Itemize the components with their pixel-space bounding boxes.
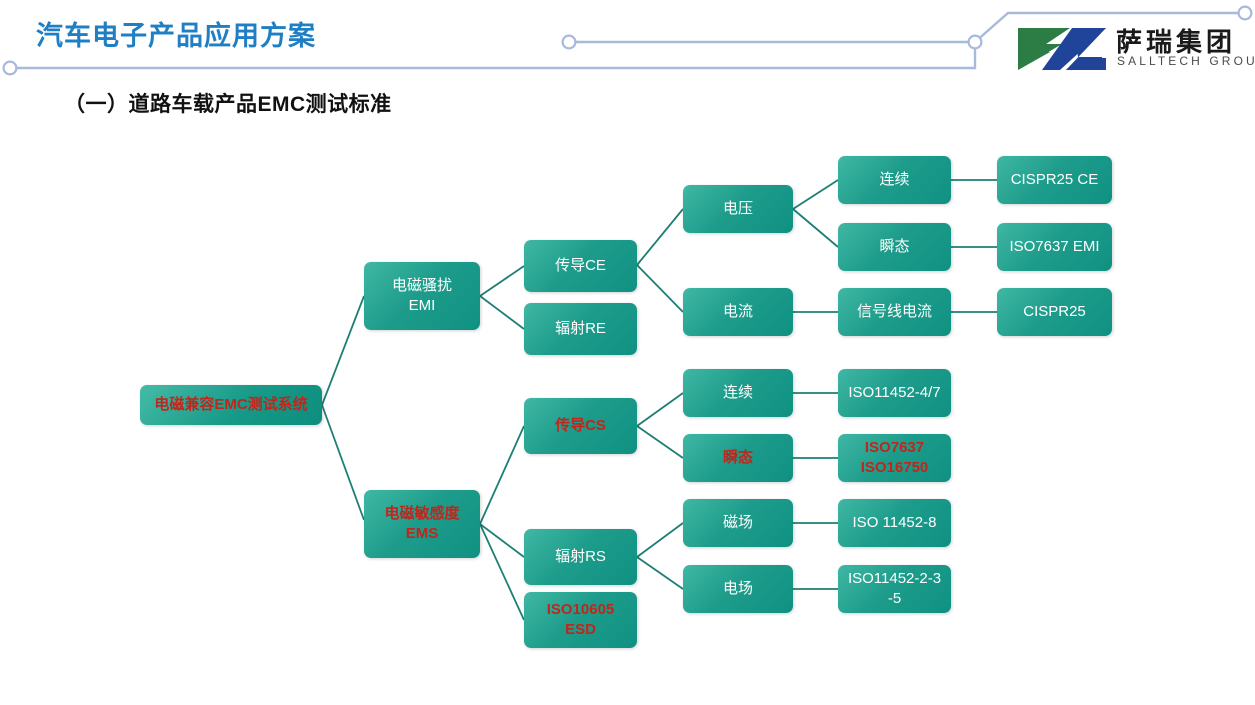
deco-circle-left <box>4 62 17 75</box>
node-current[interactable]: 电流 <box>683 288 793 336</box>
node-magnetic-field[interactable]: 磁场 <box>683 499 793 547</box>
node-electric-field[interactable]: 电场 <box>683 565 793 613</box>
node-cispr25-ce[interactable]: CISPR25 CE <box>997 156 1112 204</box>
node-iso11452-2-3-5[interactable]: ISO11452-2-3 -5 <box>838 565 951 613</box>
node-cispr25[interactable]: CISPR25 <box>997 288 1112 336</box>
node-iso11452-4-7[interactable]: ISO11452-4/7 <box>838 369 951 417</box>
slide-canvas: 汽车电子产品应用方案 （一）道路车载产品EMC测试标准 萨瑞集团 SALLTEC… <box>0 0 1255 705</box>
node-emi-transient[interactable]: 瞬态 <box>838 223 951 271</box>
node-voltage[interactable]: 电压 <box>683 185 793 233</box>
node-ems-continuous[interactable]: 连续 <box>683 369 793 417</box>
logo-name-en: SALLTECH GROUP <box>1117 54 1255 68</box>
company-logo: 萨瑞集团 SALLTECH GROUP <box>1016 24 1250 74</box>
node-iso7637-emi[interactable]: ISO7637 EMI <box>997 223 1112 271</box>
node-iso11452-8[interactable]: ISO 11452-8 <box>838 499 951 547</box>
node-radiated-re[interactable]: 辐射RE <box>524 303 637 355</box>
node-iso10605-esd[interactable]: ISO10605 ESD <box>524 592 637 648</box>
node-conducted-cs[interactable]: 传导CS <box>524 398 637 454</box>
node-emi[interactable]: 电磁骚扰 EMI <box>364 262 480 330</box>
node-iso7637-iso16750[interactable]: ISO7637 ISO16750 <box>838 434 951 482</box>
node-signal-line-current[interactable]: 信号线电流 <box>838 288 951 336</box>
node-emi-continuous[interactable]: 连续 <box>838 156 951 204</box>
node-ems-transient[interactable]: 瞬态 <box>683 434 793 482</box>
node-radiated-rs[interactable]: 辐射RS <box>524 529 637 585</box>
node-root-emc-system[interactable]: 电磁兼容EMC测试系统 <box>140 385 322 425</box>
emc-test-tree-diagram: 电磁兼容EMC测试系统 电磁骚扰 EMI 传导CE 辐射RE 电压 电流 连续 … <box>0 110 1255 705</box>
deco-circle-junction <box>969 36 982 49</box>
node-conducted-ce[interactable]: 传导CE <box>524 240 637 292</box>
node-ems[interactable]: 电磁敏感度 EMS <box>364 490 480 558</box>
deco-circle-middle <box>563 36 576 49</box>
deco-circle-right <box>1239 7 1252 20</box>
page-title: 汽车电子产品应用方案 <box>36 14 316 53</box>
salltech-logo-icon <box>1016 26 1108 72</box>
